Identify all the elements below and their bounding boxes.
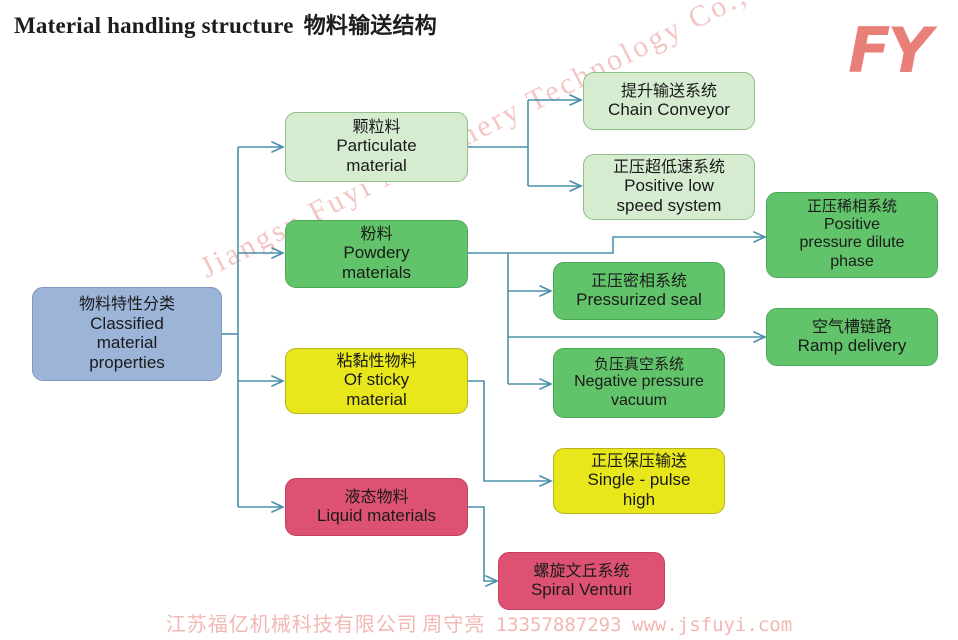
node-label-en-2: speed system [617, 196, 722, 216]
node-powdery-materials[interactable]: 粉料 Powdery materials [285, 220, 468, 288]
node-label-cn: 正压超低速系统 [613, 158, 725, 177]
node-ramp-delivery[interactable]: 空气槽链路 Ramp delivery [766, 308, 938, 366]
footer-contact-person: 周守亮 [422, 612, 485, 636]
node-label-cn: 正压保压输送 [591, 452, 687, 471]
node-label-en-1: Spiral Venturi [531, 580, 632, 600]
node-label-en-3: phase [830, 253, 874, 272]
connector-powdery-to-dilute [508, 237, 764, 253]
connector-sticky-to-pulse [468, 381, 550, 481]
node-label-en-1: Positive [824, 216, 880, 235]
node-negative-pressure-vacuum[interactable]: 负压真空系统 Negative pressure vacuum [553, 348, 725, 418]
node-label-en-1: Ramp delivery [798, 336, 907, 356]
node-label-en-1: Classified [90, 314, 164, 334]
connector-liquid-to-venturi [468, 507, 496, 581]
node-label-en-1: Positive low [624, 176, 714, 196]
node-label-en-1: Liquid materials [317, 506, 436, 526]
node-chain-conveyor[interactable]: 提升输送系统 Chain Conveyor [583, 72, 755, 130]
node-label-cn: 提升输送系统 [621, 82, 717, 101]
node-label-en-3: properties [89, 353, 165, 373]
node-classified-material-properties[interactable]: 物料特性分类 Classified material properties [32, 287, 222, 381]
node-particulate-material[interactable]: 颗粒料 Particulate material [285, 112, 468, 182]
node-label-cn: 物料特性分类 [79, 295, 175, 314]
footer-phone: 13357887293 [496, 614, 622, 636]
node-label-en-2: material [346, 156, 406, 176]
node-of-sticky-material[interactable]: 粘黏性物料 Of sticky material [285, 348, 468, 414]
diagram-canvas: Material handling structure物料输送结构 FY Jia… [0, 0, 958, 640]
node-label-cn: 螺旋文丘系统 [533, 562, 629, 581]
node-label-en-2: high [623, 490, 655, 510]
node-label-en-2: pressure dilute [800, 234, 905, 253]
node-single-pulse-high[interactable]: 正压保压输送 Single - pulse high [553, 448, 725, 514]
node-label-cn: 颗粒料 [352, 118, 400, 137]
node-label-en-2: vacuum [611, 392, 667, 411]
node-label-en-2: material [97, 333, 157, 353]
node-label-cn: 正压密相系统 [591, 272, 687, 291]
node-label-en-1: Negative pressure [574, 373, 704, 392]
node-label-en-1: Chain Conveyor [608, 100, 730, 120]
node-label-en-2: materials [342, 263, 411, 283]
node-spiral-venturi[interactable]: 螺旋文丘系统 Spiral Venturi [498, 552, 665, 610]
node-label-en-1: Of sticky [344, 370, 409, 390]
node-label-en-2: material [346, 390, 406, 410]
node-label-cn: 液态物料 [344, 488, 408, 507]
node-label-en-1: Particulate [336, 136, 416, 156]
node-label-cn: 负压真空系统 [594, 356, 684, 374]
node-positive-low-speed-system[interactable]: 正压超低速系统 Positive low speed system [583, 154, 755, 220]
node-liquid-materials[interactable]: 液态物料 Liquid materials [285, 478, 468, 536]
node-label-cn: 空气槽链路 [812, 318, 892, 337]
footer-website: www.jsfuyi.com [632, 614, 792, 636]
footer-contact-bar: 江苏福亿机械科技有限公司 周守亮 13357887293 www.jsfuyi.… [0, 608, 958, 637]
node-label-en-1: Pressurized seal [576, 290, 702, 310]
footer-company-name: 江苏福亿机械科技有限公司 [166, 612, 418, 636]
node-positive-pressure-dilute-phase[interactable]: 正压稀相系统 Positive pressure dilute phase [766, 192, 938, 278]
node-label-cn: 粘黏性物料 [336, 352, 416, 371]
node-label-cn: 正压稀相系统 [807, 198, 897, 216]
node-pressurized-seal[interactable]: 正压密相系统 Pressurized seal [553, 262, 725, 320]
node-label-cn: 粉料 [360, 225, 392, 244]
node-label-en-1: Single - pulse [587, 470, 690, 490]
node-label-en-1: Powdery [343, 243, 409, 263]
